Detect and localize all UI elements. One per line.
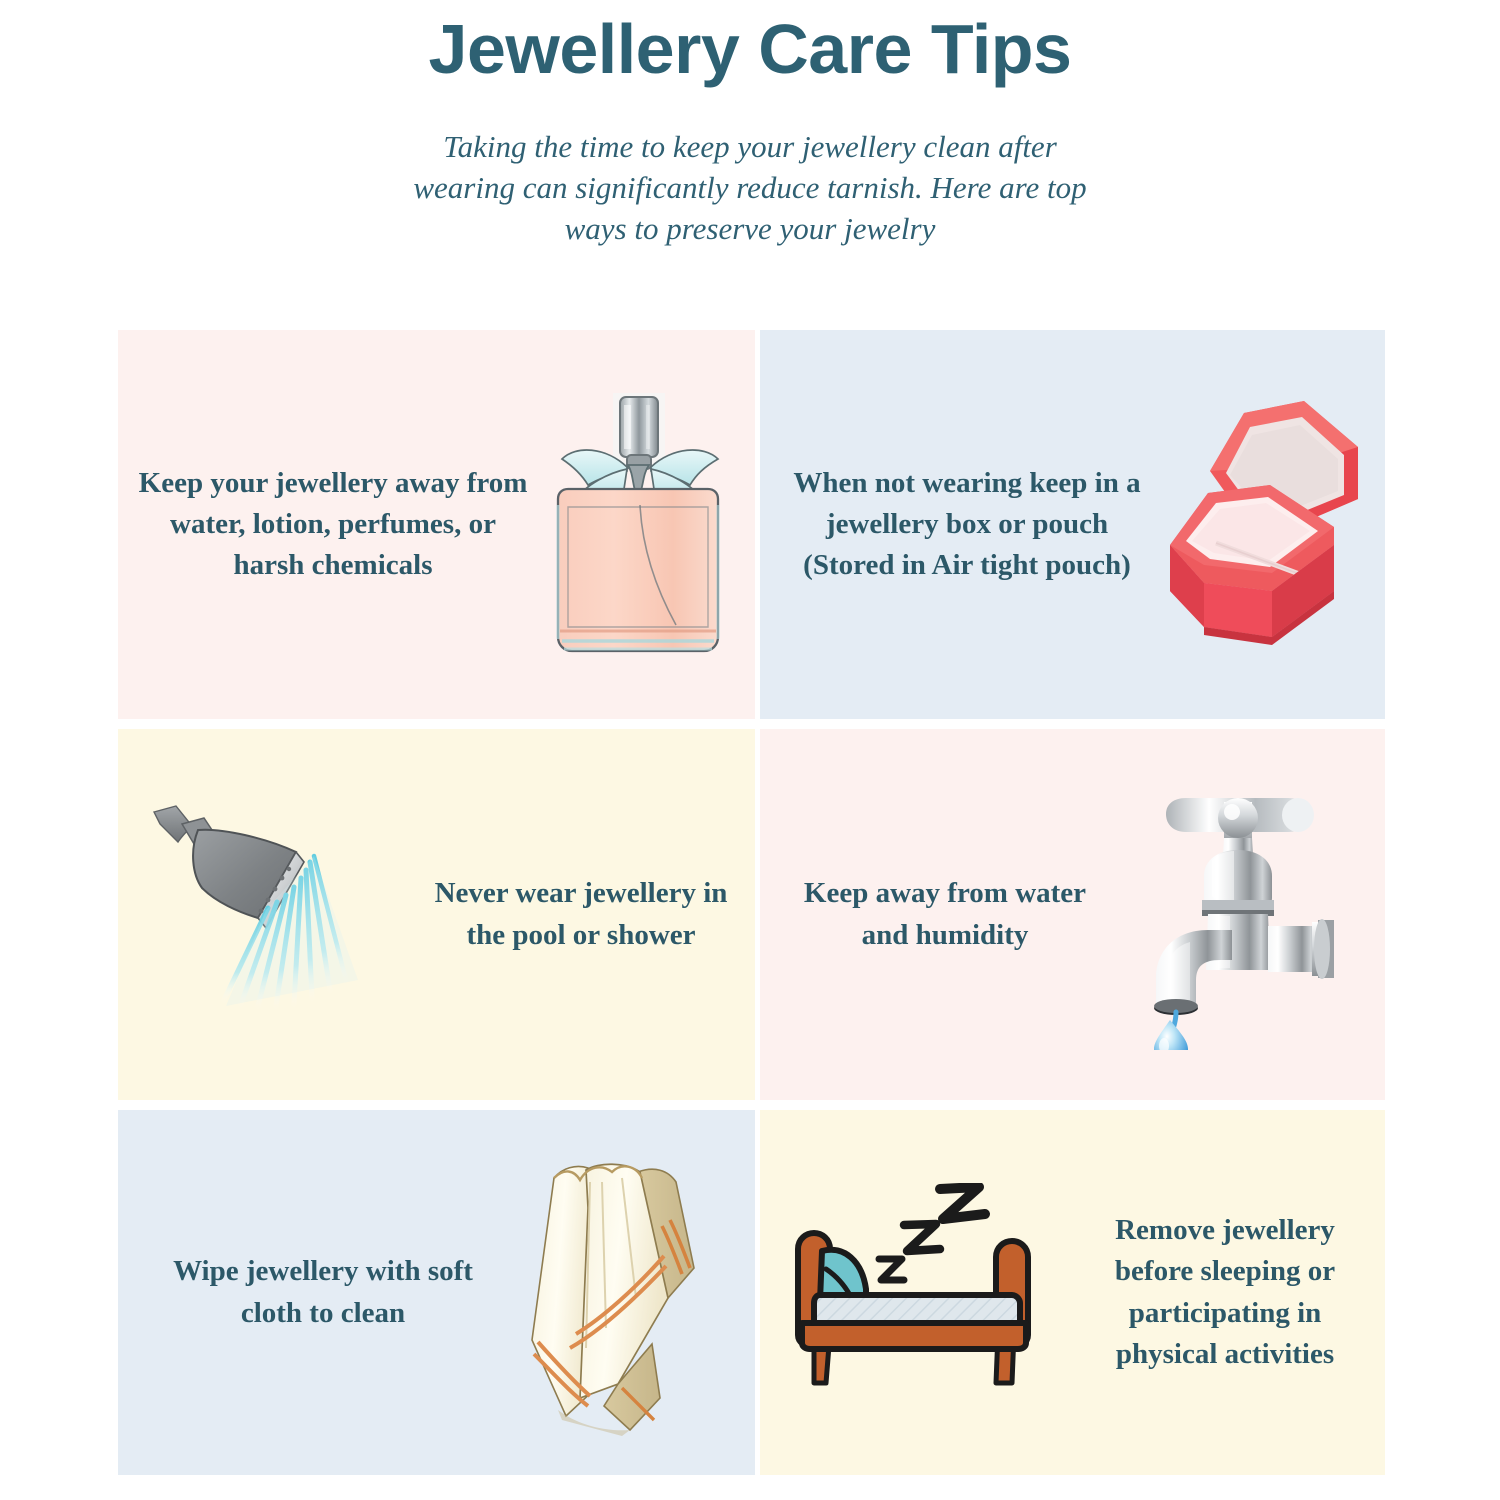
header: Jewellery Care Tips Taking the time to k… [0,0,1500,250]
tip-card-shower[interactable]: Never wear jewellery in the pool or show… [118,729,755,1100]
tip-card-soft-cloth[interactable]: Wipe jewellery with soft cloth to clean [118,1110,755,1475]
tip-card-text: Never wear jewellery in the pool or show… [416,873,746,955]
faucet-drip-icon [1112,780,1362,1050]
page-title: Jewellery Care Tips [0,0,1500,84]
tip-card-text: Keep away from water and humidity [800,873,1090,955]
tips-grid: Keep your jewellery away from water, lot… [118,330,1385,1476]
tip-card-humidity[interactable]: Keep away from water and humidity [760,729,1385,1100]
tip-card-text: Remove jewellery before sleeping or part… [1080,1210,1370,1375]
tip-card-text: Keep your jewellery away from water, lot… [138,463,528,587]
tip-card-jewellery-box[interactable]: When not wearing keep in a jewellery box… [760,330,1385,719]
tip-card-sleep[interactable]: Remove jewellery before sleeping or part… [760,1110,1385,1475]
tip-card-perfume[interactable]: Keep your jewellery away from water, lot… [118,330,755,719]
tip-card-text: Wipe jewellery with soft cloth to clean [158,1251,488,1333]
infographic-page: Jewellery Care Tips Taking the time to k… [0,0,1500,1500]
page-subtitle: Taking the time to keep your jewellery c… [405,126,1095,250]
bed-sleeping-icon [780,1183,1050,1403]
tip-card-text: When not wearing keep in a jewellery box… [782,463,1152,587]
soft-cloth-icon [518,1148,748,1438]
perfume-bottle-icon [528,375,748,675]
ring-box-icon [1152,395,1377,655]
shower-head-icon [146,790,396,1040]
